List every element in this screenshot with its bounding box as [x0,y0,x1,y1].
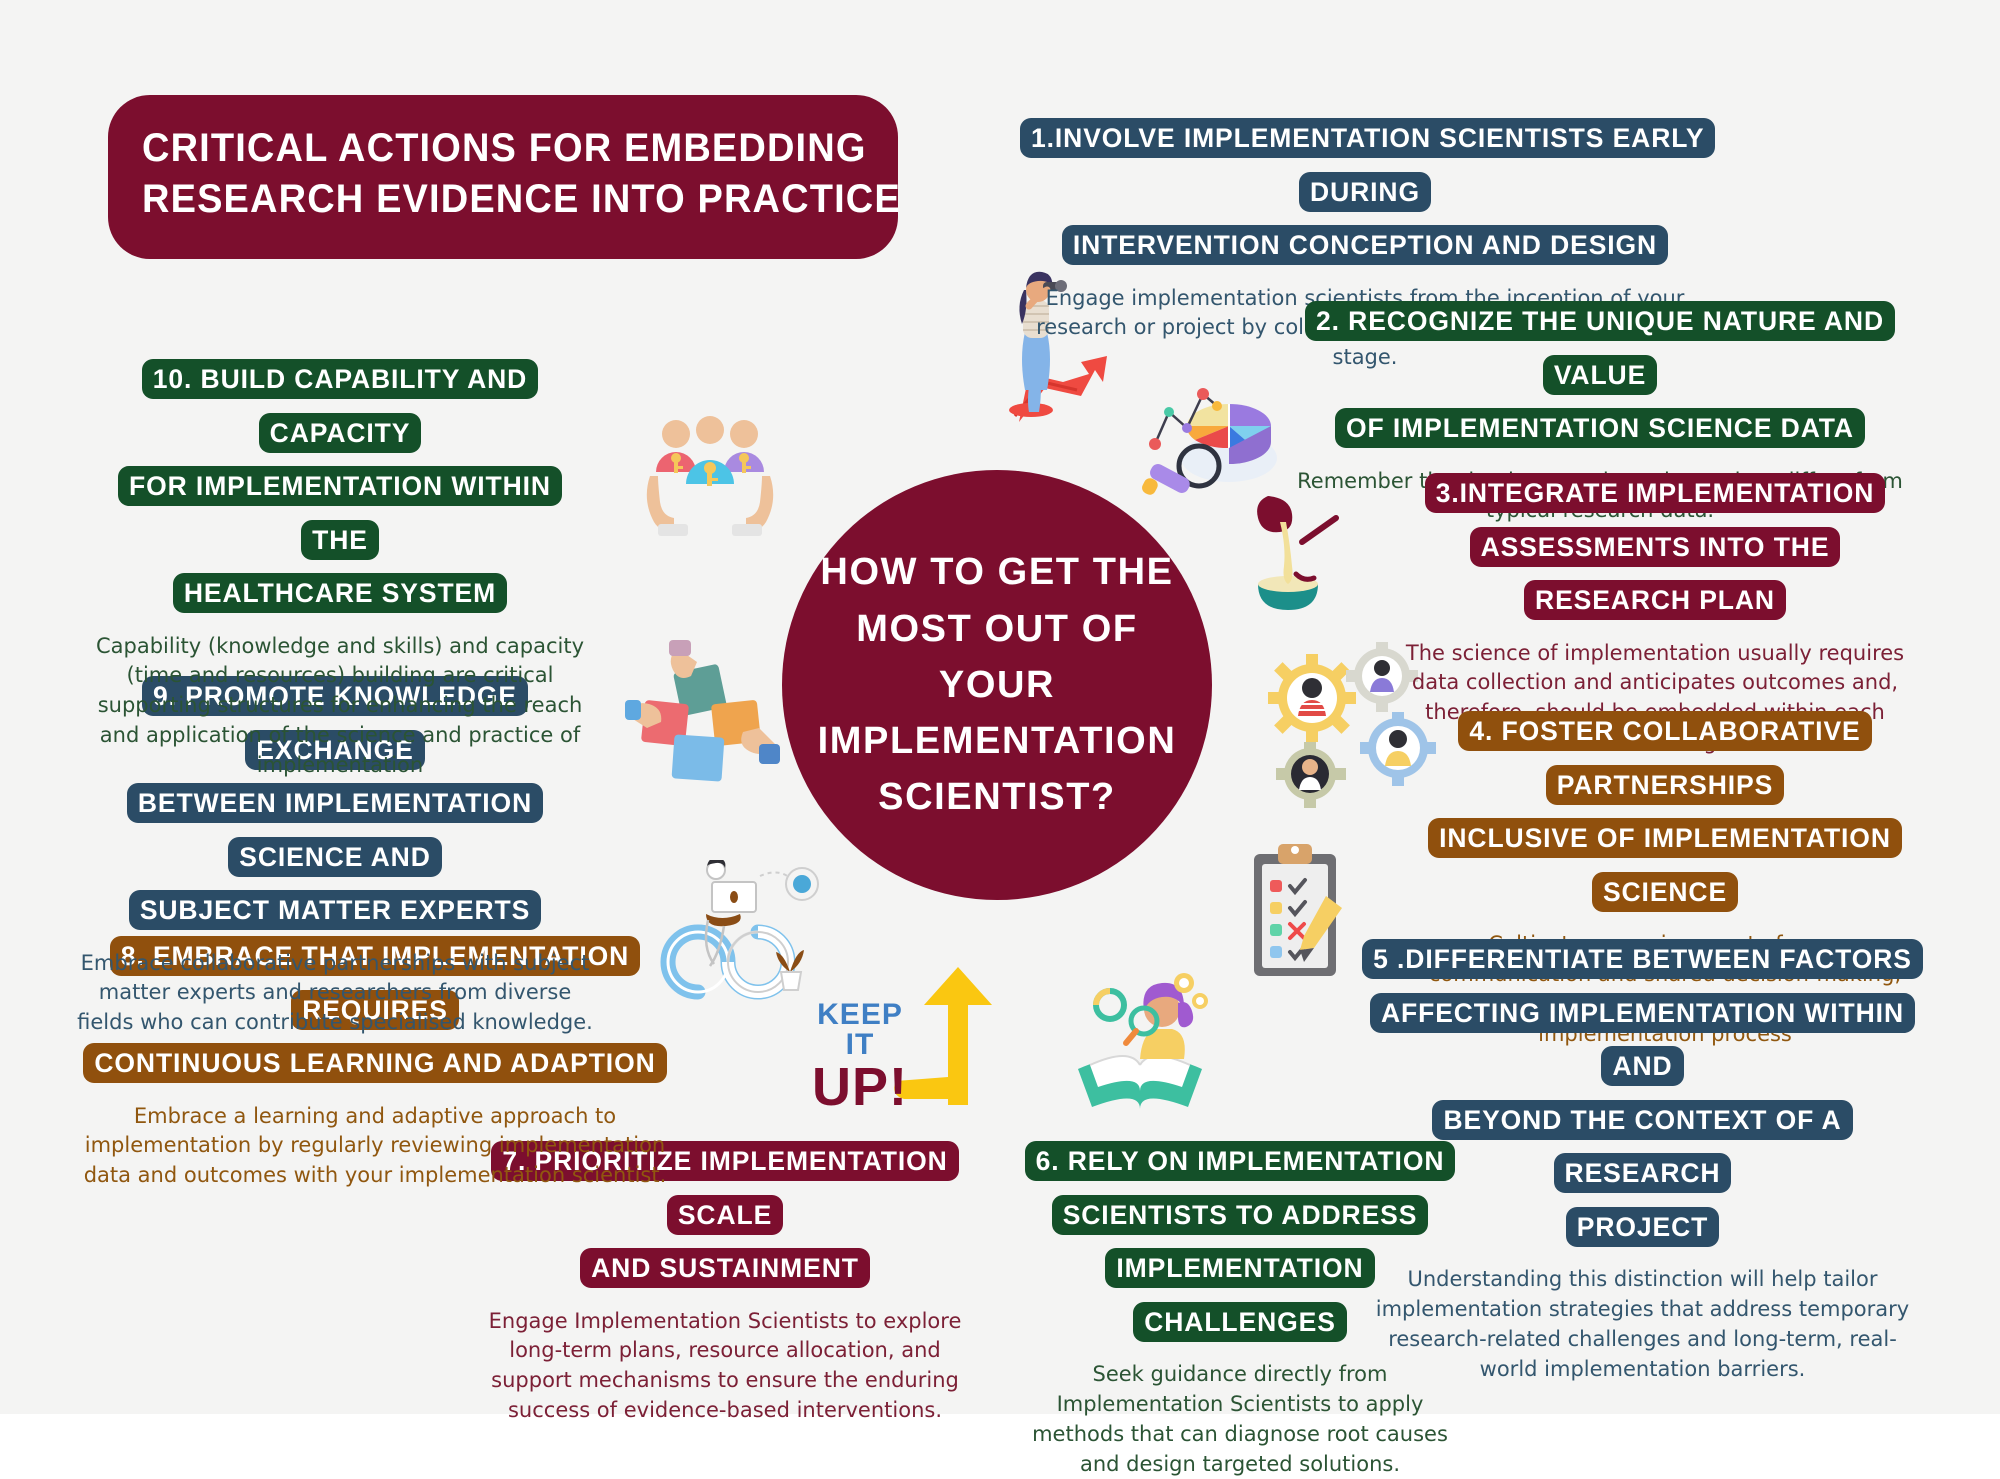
item-2-heading: 2. Recognize the unique nature and value… [1290,295,1910,456]
item-10-heading-line-2: for implementation within the [118,466,562,560]
item-8-heading-line-2: continuous learning and adaption [83,1043,666,1083]
keep-it-up-label: Keep it UP! [800,1000,920,1114]
item-5-heading-line-2: affecting implementation within and [1370,993,1915,1087]
item-10-heading-line-3: healthcare system [173,573,507,613]
item-9-heading-line-2: between implementation science and [127,783,543,877]
item-6-heading-line-1: 6. Rely on implementation [1025,1141,1456,1181]
item-9-body: Embrace collaborative partnerships with … [75,949,595,1038]
item-10-heading-line-1: 10. Build capability and capacity [142,359,538,453]
item-1-heading-line-1: 1.Involve implementation scientists earl… [1020,118,1715,212]
item-6-heading-line-2: scientists to address [1052,1195,1429,1235]
infographic-canvas: Critical actions for embedding research … [0,0,2000,1414]
item-7-heading-line-2: and sustainment [580,1248,870,1288]
item-8-body: Embrace a learning and adaptive approach… [80,1102,670,1191]
item-2-heading-line-2: of implementation science data [1335,408,1865,448]
hub-line-4: implementation [818,713,1177,769]
item-4-heading-line-2: inclusive of implementation science [1428,818,1902,912]
continuous-learning-icon [650,860,825,1005]
item-10-body: Capability (knowledge and skills) and ca… [95,632,585,781]
item-2-heading-line-1: 2. Recognize the unique nature and value [1305,301,1895,395]
item-4-heading: 4. Foster collaborative partnerships inc… [1405,705,1925,919]
item-9-heading-line-3: subject matter experts [129,890,541,930]
item-7-body: Engage Implementation Scientists to expl… [470,1307,980,1426]
item-4-heading-line-1: 4. Foster collaborative partnerships [1458,711,1871,805]
item-1-heading: 1.Involve implementation scientists earl… [1020,112,1710,273]
item-6-heading: 6. Rely on implementation scientists to … [1020,1135,1460,1349]
item-10: 10. Build capability and capacity for im… [95,353,585,781]
keep-it-up-line-2: UP! [800,1060,920,1114]
item-3-heading: 3.Integrate implementation assessments i… [1400,467,1910,628]
item-5-heading-line-1: 5 .Differentiate between factors [1362,939,1923,979]
item-3-heading-line-1: 3.Integrate implementation [1425,473,1886,513]
item-6-body: Seek guidance directly from Implementati… [1020,1360,1460,1479]
hub-line-1: How to get the [818,544,1177,600]
hub-line-2: most out of [818,601,1177,657]
central-hub-text: How to get the most out of your implemen… [792,544,1203,825]
hands-holding-people-icon [640,410,780,540]
item-1-heading-line-2: intervention conception and design [1062,225,1668,265]
hub-line-3: your [818,657,1177,713]
hub-line-5: scientist? [818,769,1177,825]
reader-book-icon [1060,965,1220,1115]
central-hub: How to get the most out of your implemen… [782,470,1212,900]
item-6-heading-line-3: implementation challenges [1105,1248,1374,1342]
item-10-heading: 10. Build capability and capacity for im… [95,353,585,621]
item-6: 6. Rely on implementation scientists to … [1020,1135,1460,1479]
hands-puzzle-icon [625,640,780,790]
keep-it-up-line-1: Keep it [800,1000,920,1060]
page-title-line-2: research evidence into practice [142,174,828,225]
item-3-heading-line-2: assessments into the research plan [1470,527,1841,621]
page-title: Critical actions for embedding research … [108,95,898,259]
page-title-line-1: Critical actions for embedding [142,123,828,174]
item-5-heading-line-3: beyond the context of a research [1432,1100,1852,1194]
clipboard-checklist-icon [1240,840,1350,985]
item-5-heading-line-4: project [1566,1207,1719,1247]
